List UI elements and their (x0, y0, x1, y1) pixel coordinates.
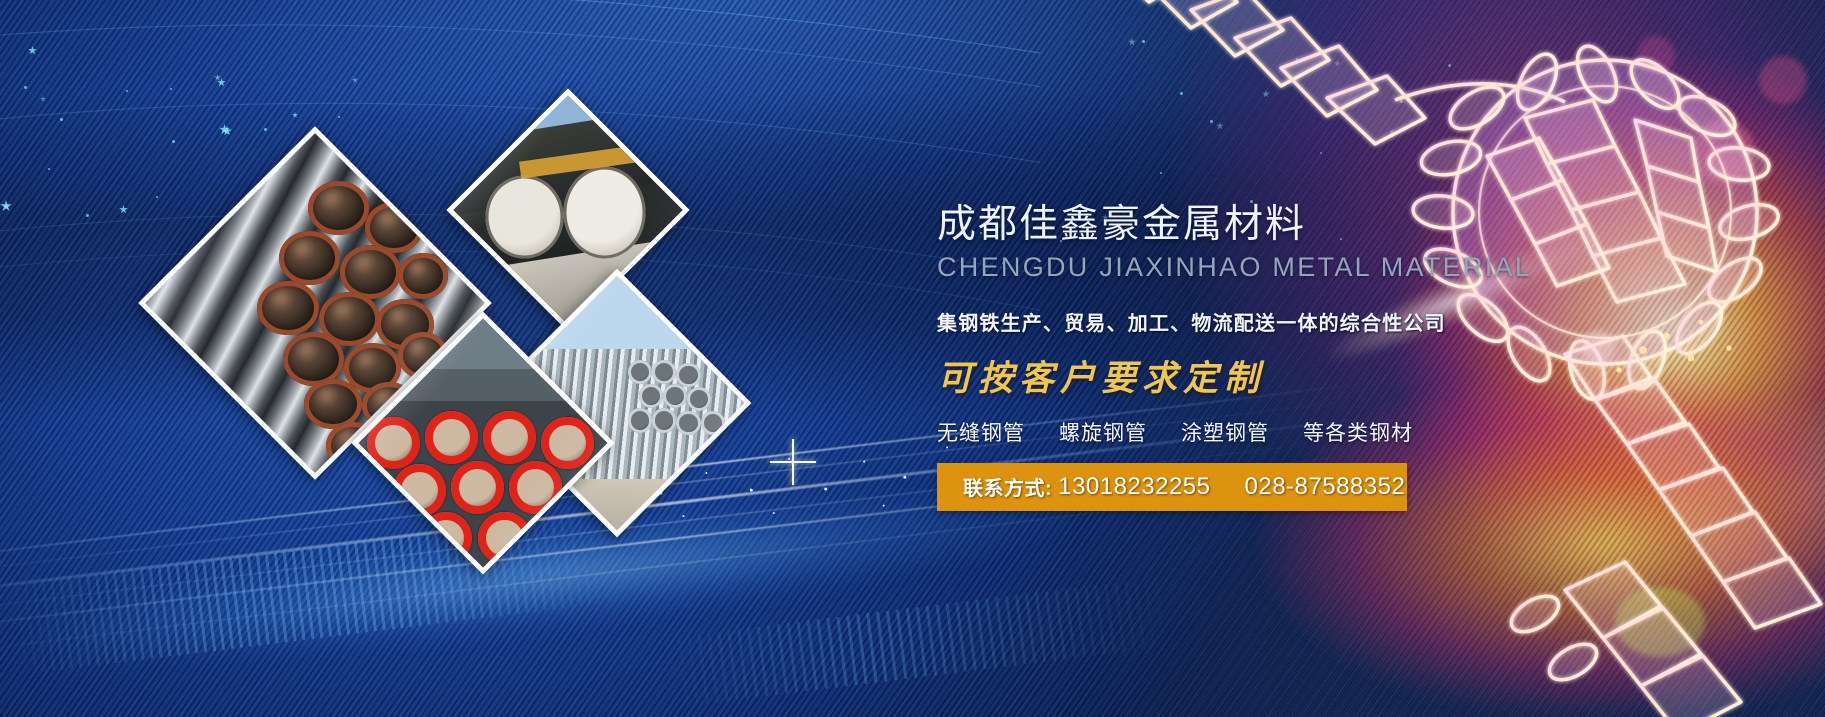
contact-bar[interactable]: 联系方式: 13018232255 028-87588352 (937, 463, 1407, 511)
product-item: 等各类钢材 (1303, 417, 1413, 447)
contact-landline-number[interactable]: 028-87588352 (1245, 473, 1406, 501)
contact-mobile-number[interactable]: 13018232255 (1058, 473, 1210, 501)
contact-label: 联系方式: (963, 472, 1052, 501)
company-name-cn: 成都佳鑫豪金属材料 (937, 204, 1457, 247)
company-tagline: 集钢铁生产、贸易、加工、物流配送一体的综合性公司 (937, 307, 1457, 336)
product-item: 无缝钢管 (937, 417, 1025, 447)
banner-text-block: 成都佳鑫豪金属材料 CHENGDU JIAXINHAO METAL MATERI… (937, 204, 1457, 511)
custom-order-highlight: 可按客户要求定制 (937, 350, 1457, 401)
promo-banner: 成都佳鑫豪金属材料 CHENGDU JIAXINHAO METAL MATERI… (0, 0, 1825, 717)
product-item: 螺旋钢管 (1059, 417, 1147, 447)
product-list: 无缝钢管 螺旋钢管 涂塑钢管 等各类钢材 (937, 417, 1457, 447)
product-item: 涂塑钢管 (1181, 417, 1269, 447)
product-photo-collage (160, 112, 720, 562)
company-name-en: CHENGDU JIAXINHAO METAL MATERIAL (937, 253, 1457, 283)
sparkle-star (770, 439, 816, 485)
